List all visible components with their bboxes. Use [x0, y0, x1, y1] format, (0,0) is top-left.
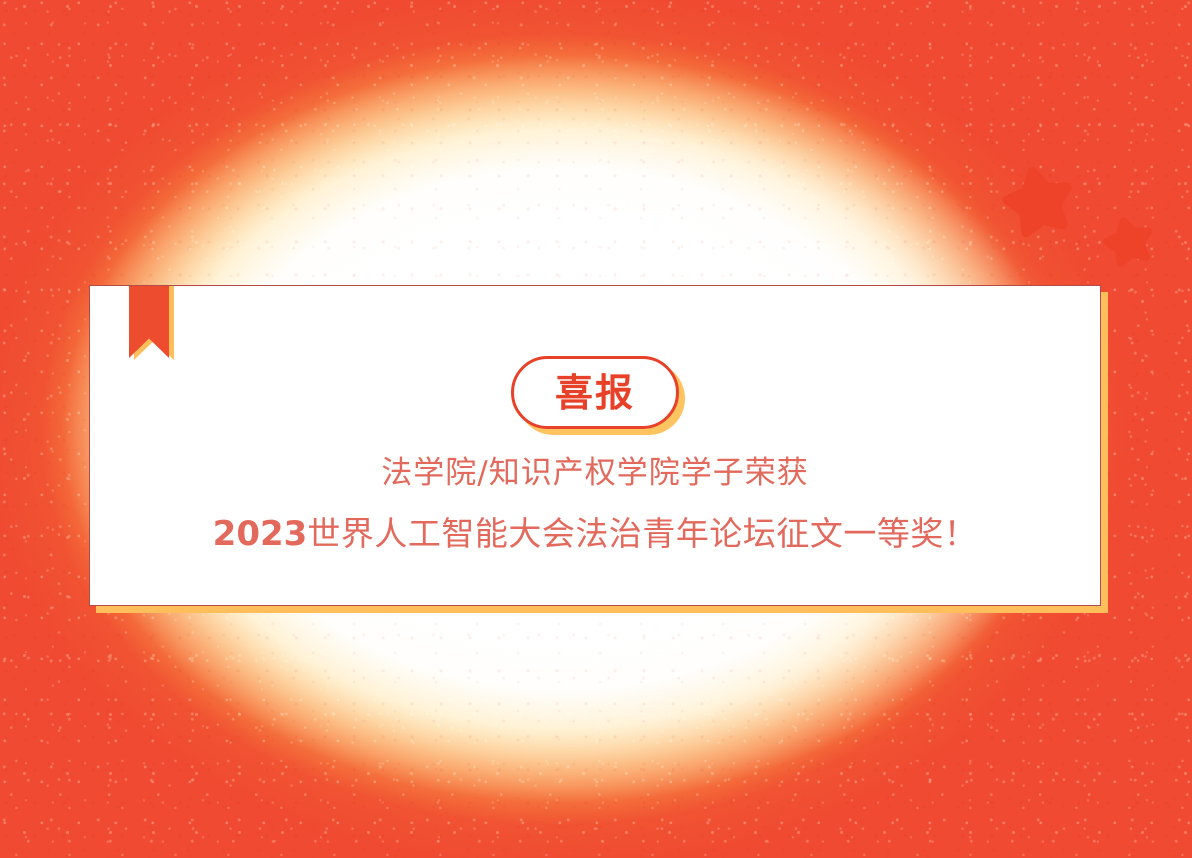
- badge-inner: 喜报: [511, 356, 679, 429]
- good-news-badge: 喜报: [511, 356, 679, 429]
- announcement-card: 喜报 法学院/知识产权学院学子荣获 2023世界人工智能大会法治青年论坛征文一等…: [89, 285, 1101, 606]
- headline-line-2-rest: 世界人工智能大会法治青年论坛征文一等奖！: [307, 514, 977, 553]
- poster-canvas: 喜报 法学院/知识产权学院学子荣获 2023世界人工智能大会法治青年论坛征文一等…: [0, 0, 1192, 858]
- star-large-icon: [994, 154, 1082, 242]
- badge-container: 喜报: [90, 356, 1100, 436]
- headline-line-2: 2023世界人工智能大会法治青年论坛征文一等奖！: [90, 513, 1100, 556]
- headline-year: 2023: [213, 514, 308, 554]
- headline-block: 法学院/知识产权学院学子荣获 2023世界人工智能大会法治青年论坛征文一等奖！: [90, 454, 1100, 555]
- card-body: 喜报 法学院/知识产权学院学子荣获 2023世界人工智能大会法治青年论坛征文一等…: [89, 285, 1101, 606]
- ribbon-shape: [129, 286, 169, 358]
- badge-label: 喜报: [555, 374, 635, 412]
- bookmark-ribbon-icon: [129, 286, 175, 362]
- headline-line-1: 法学院/知识产权学院学子荣获: [90, 454, 1100, 493]
